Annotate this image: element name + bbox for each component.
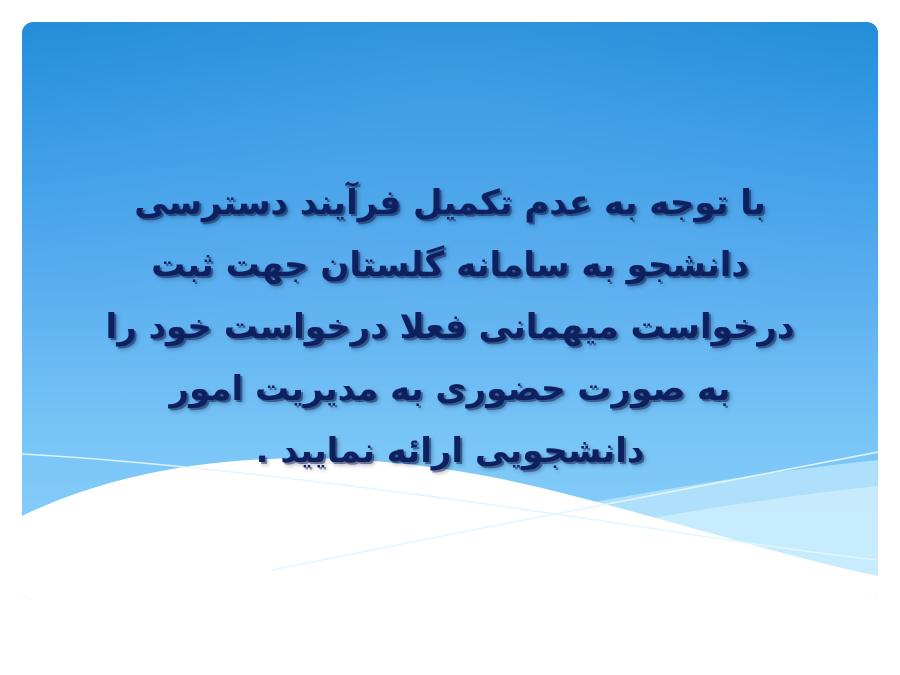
slide-text-block: با توجه به عدم تکمیل فرآیند دسترسی دانشج…: [50, 172, 850, 482]
slide-text-line-1: با توجه به عدم تکمیل فرآیند دسترسی: [50, 172, 850, 234]
slide-text-line-3: درخواست میهمانی فعلا درخواست خود را: [50, 296, 850, 358]
slide-panel: با توجه به عدم تکمیل فرآیند دسترسی دانشج…: [22, 22, 878, 600]
slide-text-line-2: دانشجو به سامانه گلستان جهت ثبت: [50, 234, 850, 296]
wave-accent-band-secondary: [22, 486, 878, 600]
slide-canvas: با توجه به عدم تکمیل فرآیند دسترسی دانشج…: [0, 0, 900, 675]
slide-text-line-5: دانشجویی ارائه نمایید .: [50, 420, 850, 482]
slide-text-line-4: به صورت حضوری به مدیریت امور: [50, 358, 850, 420]
